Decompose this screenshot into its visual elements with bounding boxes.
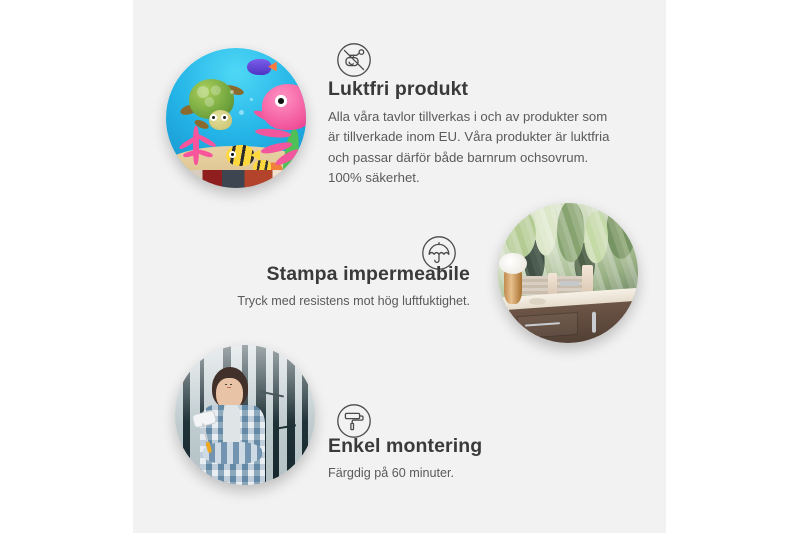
feature-waterproof-text: Stampa impermeabile Tryck med resistens … — [190, 263, 470, 312]
paint-roller-icon — [336, 403, 372, 439]
feature-waterproof-heading: Stampa impermeabile — [190, 263, 470, 286]
feature-odourless-body: Alla våra tavlor tillverkas i och av pro… — [328, 107, 620, 187]
woman-paint-roller-forest-photo — [175, 345, 315, 485]
no-spray-bottle-icon — [336, 42, 372, 78]
photo-bottom-strip — [166, 170, 306, 188]
woman-figure — [200, 367, 264, 485]
bathroom-tropical-wallpaper-photo — [498, 203, 638, 343]
blue-fish-shape — [247, 59, 271, 74]
octopus-shape — [250, 84, 306, 157]
feature-odourless-heading: Luktfri produkt — [328, 78, 620, 101]
feature-mounting-text: Enkel montering Färgdig på 60 minuter. — [328, 435, 578, 484]
soap-dish — [529, 298, 546, 305]
feature-odourless-text: Luktfri produkt Alla våra tavlor tillver… — [328, 78, 620, 188]
product-feature-infographic: Luktfri produkt Alla våra tavlor tillver… — [0, 0, 800, 533]
turtle-shape — [183, 79, 247, 135]
feature-mounting-body: Färgdig på 60 minuter. — [328, 464, 578, 483]
feature-waterproof-body: Tryck med resistens mot hög luftfuktighe… — [190, 292, 470, 311]
yellow-fish-shape — [226, 145, 254, 166]
underwater-cartoon-photo — [166, 48, 306, 188]
faucet-shape — [560, 281, 580, 285]
feature-mounting-heading: Enkel montering — [328, 435, 578, 458]
